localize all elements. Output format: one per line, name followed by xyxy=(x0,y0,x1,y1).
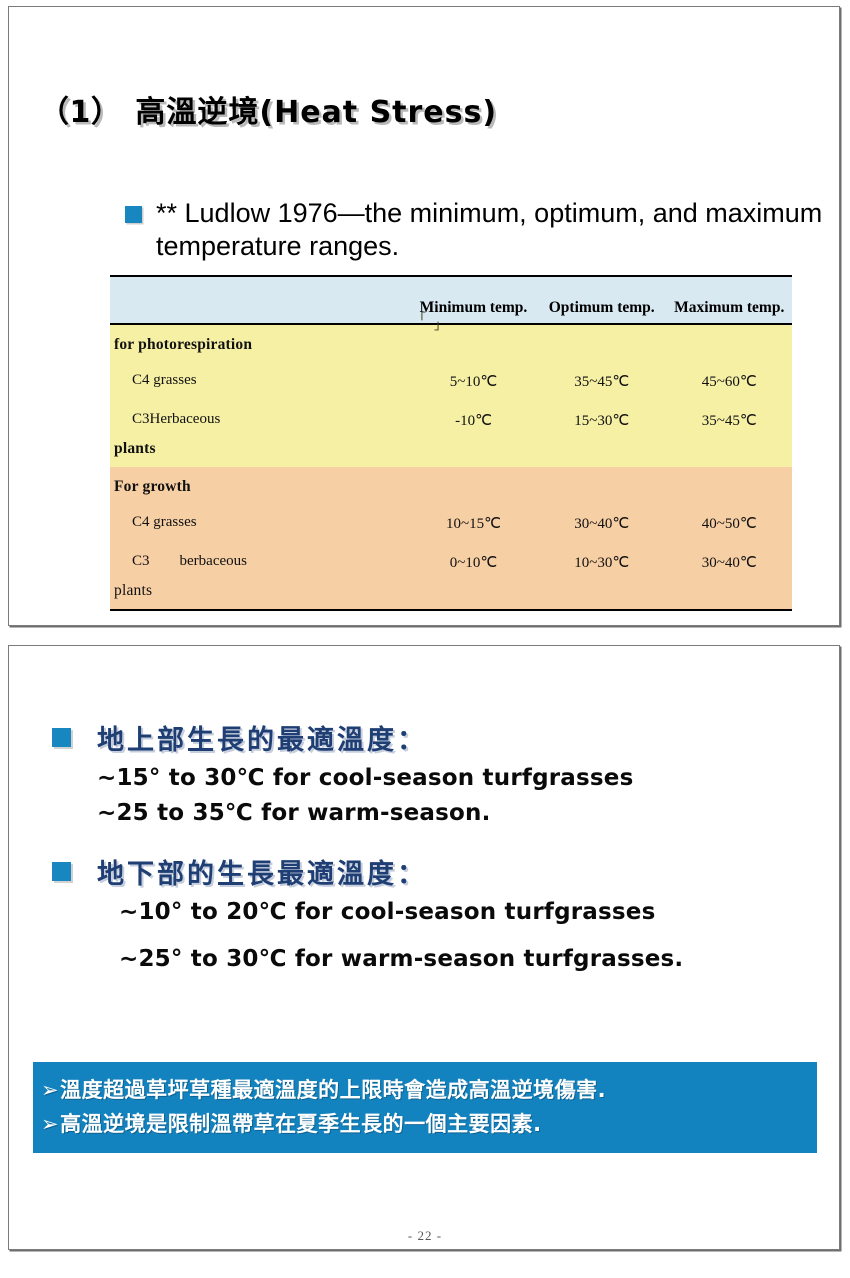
page-title: （1）高溫逆境(Heat Stress) xyxy=(39,87,497,131)
cell-minimum: -10℃ xyxy=(410,401,537,440)
arrow-bullet-icon: ➢ xyxy=(41,1078,59,1102)
shoot-cool-season-line: ~15° to 30℃ for cool-season turfgrasses xyxy=(97,761,812,796)
row-name-continuation: plants xyxy=(110,582,792,610)
title-number: （1） xyxy=(39,95,121,130)
page-number-footer: - 22 - xyxy=(0,1228,850,1244)
callout-line-2: ➢高溫逆境是限制溫帶草在夏季生長的一個主要因素. xyxy=(33,1107,817,1141)
cell-maximum: 30~40℃ xyxy=(667,543,793,582)
cell-maximum: 45~60℃ xyxy=(667,362,793,401)
section-label-growth: For growth xyxy=(110,467,792,504)
row-name: C3Herbaceous xyxy=(110,401,410,440)
root-cool-season-line: ~10° to 20℃ for cool-season turfgrasses xyxy=(97,895,812,930)
cell-minimum: 0~10℃ xyxy=(410,543,537,582)
callout-line-1-text: 溫度超過草坪草種最適溫度的上限時會造成高溫逆境傷害. xyxy=(60,1078,606,1102)
square-bullet-icon xyxy=(52,728,71,747)
table-row: C3 berbaceous 0~10℃ 10~30℃ 30~40℃ xyxy=(110,543,792,582)
cell-minimum: 5~10℃ xyxy=(410,362,537,401)
square-bullet-icon xyxy=(52,862,71,881)
root-optimum-temp-lines: 地下部的生長最適溫度： ~10° to 20℃ for cool-season … xyxy=(97,852,812,977)
callout-line-1: ➢溫度超過草坪草種最適溫度的上限時會造成高溫逆境傷害. xyxy=(33,1073,817,1107)
shoot-optimum-temp-lines: 地上部生長的最適溫度： ~15° to 30℃ for cool-season … xyxy=(97,718,812,831)
cell-optimum: 10~30℃ xyxy=(537,543,667,582)
table-row-continuation: plants xyxy=(110,582,792,610)
cell-maximum: 40~50℃ xyxy=(667,504,793,543)
table-row: C4 grasses 10~15℃ 30~40℃ 40~50℃ xyxy=(110,504,792,543)
summary-callout-box: ➢溫度超過草坪草種最適溫度的上限時會造成高溫逆境傷害. ➢高溫逆境是限制溫帶草在… xyxy=(33,1062,817,1153)
shoot-optimum-temp-block: 地上部生長的最適溫度： ~15° to 30℃ for cool-season … xyxy=(52,718,812,831)
shoot-warm-season-line: ~25 to 35℃ for warm-season. xyxy=(97,796,812,831)
callout-line-2-text: 高溫逆境是限制溫帶草在夏季生長的一個主要因素. xyxy=(60,1112,541,1136)
root-warm-season-line: ~25° to 30℃ for warm-season turfgrasses. xyxy=(97,942,812,977)
table-row: C4 grasses 5~10℃ 35~45℃ 45~60℃ xyxy=(110,362,792,401)
cell-maximum: 35~45℃ xyxy=(667,401,793,440)
square-bullet-icon xyxy=(125,206,142,223)
shoot-optimum-temp-heading: 地上部生長的最適溫度： xyxy=(97,718,812,757)
cell-minimum: 10~15℃ xyxy=(410,504,537,543)
row-name-continuation: plants xyxy=(110,440,792,467)
table-header-optimum: Optimum temp. xyxy=(537,276,667,324)
root-optimum-temp-block: 地下部的生長最適溫度： ~10° to 20℃ for cool-season … xyxy=(52,852,812,977)
table-header-blank xyxy=(110,276,410,324)
cell-optimum: 35~45℃ xyxy=(537,362,667,401)
table-row-continuation: plants xyxy=(110,440,792,467)
corner-bracket-close-icon: 」 xyxy=(434,319,453,332)
row-name: C4 grasses xyxy=(110,362,410,401)
row-name: C3 berbaceous xyxy=(110,543,410,582)
cell-optimum: 30~40℃ xyxy=(537,504,667,543)
slide-page: （1）高溫逆境(Heat Stress) ** Ludlow 1976—the … xyxy=(0,0,850,1278)
bullet-ludlow: ** Ludlow 1976—the minimum, optimum, and… xyxy=(125,197,825,263)
cell-optimum: 15~30℃ xyxy=(537,401,667,440)
corner-bracket-open-icon: 「 xyxy=(413,312,432,327)
slide-frame-1: （1）高溫逆境(Heat Stress) ** Ludlow 1976—the … xyxy=(8,6,840,626)
title-text: 高溫逆境(Heat Stress) xyxy=(135,95,497,130)
table-row: C3Herbaceous -10℃ 15~30℃ 35~45℃ xyxy=(110,401,792,440)
row-name: C4 grasses xyxy=(110,504,410,543)
arrow-bullet-icon: ➢ xyxy=(41,1112,59,1136)
bullet-ludlow-label: ** Ludlow 1976—the minimum, optimum, and… xyxy=(156,197,825,263)
corner-bracket-marks: 「」 xyxy=(413,313,453,326)
table-section-label-row: For growth xyxy=(110,467,792,504)
table-header-maximum: Maximum temp. xyxy=(667,276,793,324)
root-optimum-temp-heading: 地下部的生長最適溫度： xyxy=(97,852,812,891)
